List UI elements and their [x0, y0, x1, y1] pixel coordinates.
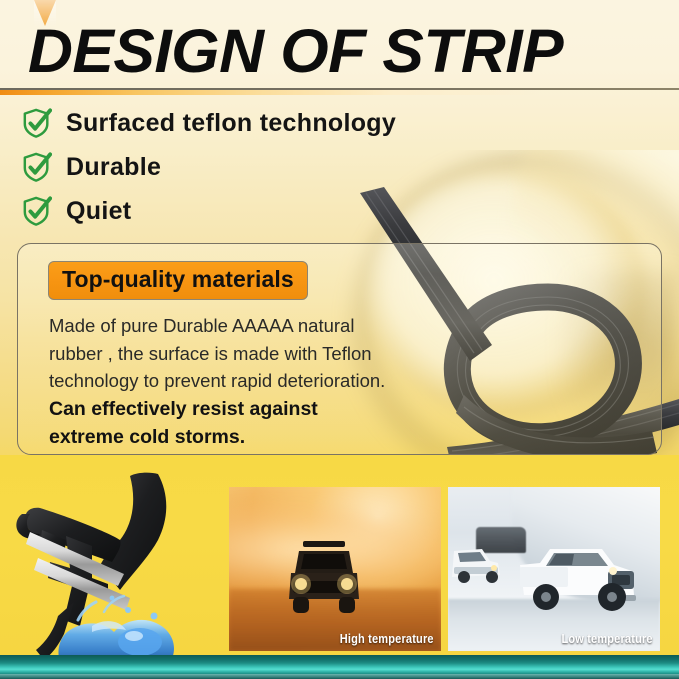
feature-item-surfaced-teflon-technology: Surfaced teflon technology: [22, 101, 582, 145]
info-box: Top-quality materials Made of pure Durab…: [17, 243, 662, 455]
info-emphasis-line: extreme cold storms.: [49, 423, 449, 451]
info-box-body: Made of pure Durable AAAAA natural rubbe…: [49, 312, 449, 451]
info-paragraph-line: technology to prevent rapid deterioratio…: [49, 367, 449, 395]
info-emphasis-line: Can effectively resist against: [49, 395, 449, 423]
photo-high-temperature: High temperature: [229, 487, 441, 651]
feature-item-label: Surfaced teflon technology: [66, 109, 396, 138]
feature-item-label: Durable: [66, 153, 161, 182]
info-paragraph-line: rubber , the surface is made with Teflon: [49, 340, 449, 368]
product-infographic-poster: DESIGN OF STRIP Surfaced teflon technolo…: [0, 0, 679, 679]
feature-item-label: Quiet: [66, 197, 131, 226]
feature-item-durable: Durable: [22, 145, 582, 189]
photo-low-temperature: Low temperature: [448, 487, 660, 651]
second-vehicle-illustration: [448, 539, 506, 587]
feature-item-quiet: Quiet: [22, 189, 582, 233]
photo-caption: High temperature: [340, 632, 434, 646]
title-divider-glow: [0, 90, 679, 95]
shield-check-icon: [22, 107, 52, 139]
shield-check-icon: [22, 195, 52, 227]
feature-list: Surfaced teflon technology Durable Quiet: [22, 101, 582, 233]
status-badge: Top-quality materials: [48, 261, 308, 300]
suv-vehicle-illustration: [281, 539, 367, 621]
info-paragraph-line: Made of pure Durable AAAAA natural: [49, 312, 449, 340]
shield-check-icon: [22, 151, 52, 183]
white-pickup-truck-illustration: [516, 541, 638, 619]
photo-caption: Low temperature: [562, 632, 653, 646]
bottom-accent-bar: [0, 655, 679, 679]
page-title: DESIGN OF STRIP: [28, 15, 679, 87]
